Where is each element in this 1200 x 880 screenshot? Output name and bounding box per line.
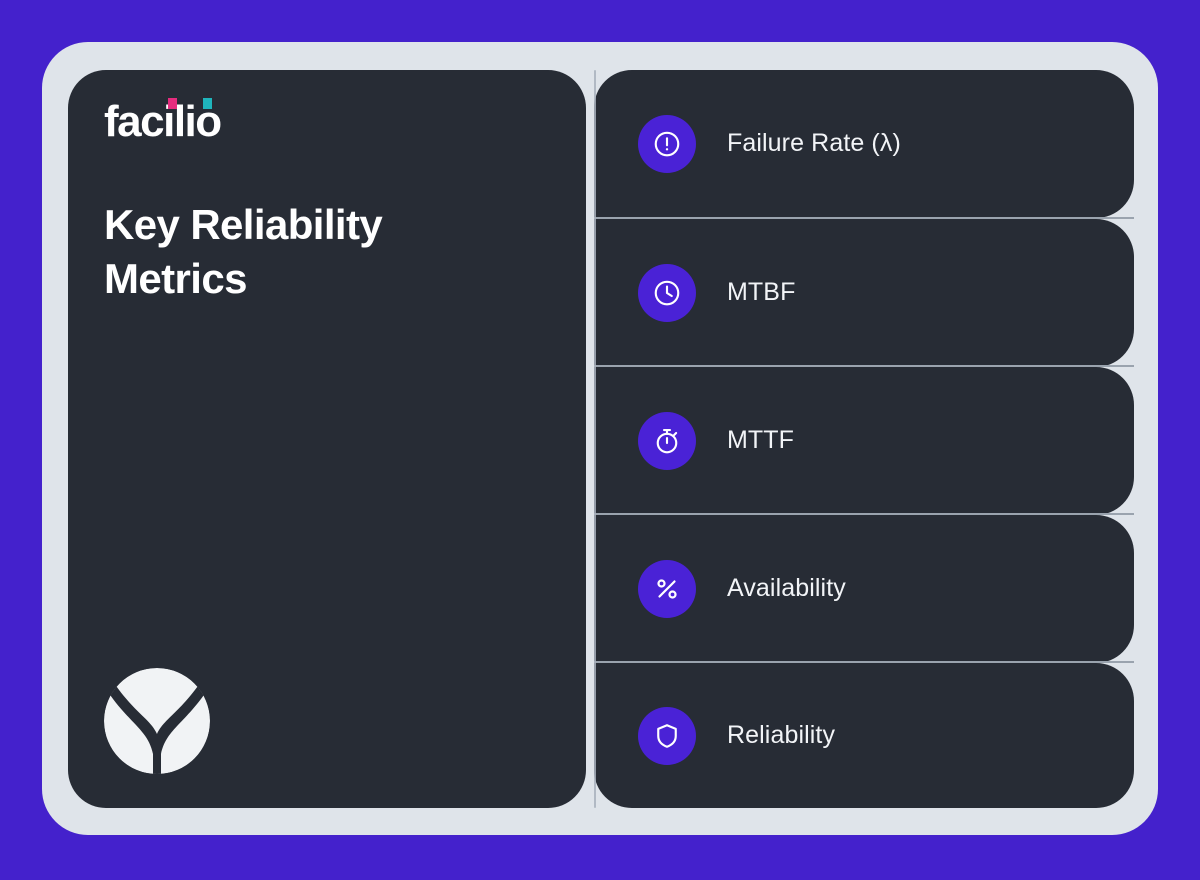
page-title: Key Reliability Metrics (104, 198, 524, 306)
alert-circle-icon (638, 115, 696, 173)
infographic-canvas: facilio Key Reliability Metrics (0, 0, 1200, 880)
card-divider (594, 513, 1134, 515)
percent-icon (638, 560, 696, 618)
card-divider (594, 217, 1134, 219)
brand-dot-teal-icon (203, 98, 212, 109)
brand-dot-pink-icon (168, 98, 177, 109)
metric-label: Reliability (727, 721, 835, 750)
metric-label: MTBF (727, 278, 795, 307)
metric-card-reliability[interactable]: Reliability (594, 663, 1134, 808)
metric-card-mtbf[interactable]: MTBF (594, 219, 1134, 367)
metric-card-failure-rate[interactable]: Failure Rate (λ) (594, 70, 1134, 218)
shield-icon (638, 707, 696, 765)
metric-label: Availability (727, 574, 846, 603)
card-divider (594, 661, 1134, 663)
metric-card-mttf[interactable]: MTTF (594, 367, 1134, 515)
card-divider (594, 365, 1134, 367)
facilio-logo-mark-icon (104, 668, 210, 774)
metric-label: MTTF (727, 426, 794, 455)
metric-label: Failure Rate (λ) (727, 129, 901, 158)
metrics-stack: Failure Rate (λ) MTBF (594, 70, 1134, 808)
stack-left-edge (594, 70, 596, 808)
metric-card-availability[interactable]: Availability (594, 515, 1134, 663)
stopwatch-icon (638, 412, 696, 470)
brand-wordmark: facilio (104, 100, 221, 144)
clock-icon (638, 264, 696, 322)
